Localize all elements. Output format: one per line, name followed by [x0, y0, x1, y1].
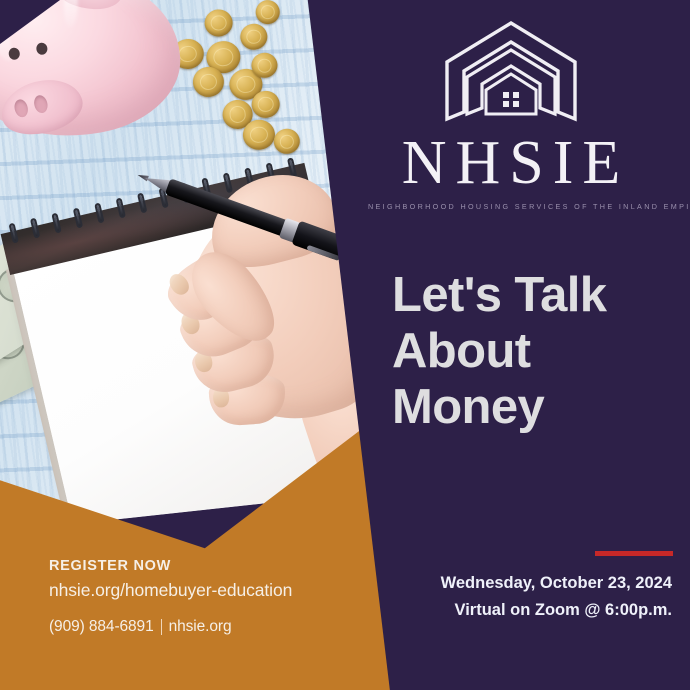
red-accent-divider — [595, 551, 673, 556]
phone-number[interactable]: (909) 884-6891 — [49, 618, 154, 636]
logo-wordmark: NHSIE — [365, 132, 657, 195]
nhsie-house-logo-icon — [441, 18, 581, 130]
registration-url[interactable]: nhsie.org/homebuyer-education — [49, 578, 292, 603]
flyer-content: NHSIE NEIGHBORHOOD HOUSING SERVICES OF T… — [0, 0, 690, 690]
website-url[interactable]: nhsie.org — [169, 618, 232, 636]
contact-line: (909) 884-6891 nhsie.org — [49, 618, 292, 636]
nhsie-logo: NHSIE NEIGHBORHOOD HOUSING SERVICES OF T… — [365, 18, 657, 211]
flyer-canvas: 100 100 — [0, 0, 690, 690]
event-format: Virtual on Zoom @ 6:00p.m. — [370, 597, 672, 624]
page-title: Let's Talk About Money — [392, 268, 682, 436]
headline-line-1: Let's Talk — [392, 268, 682, 324]
event-date: Wednesday, October 23, 2024 — [370, 570, 672, 597]
register-cta-label: REGISTER NOW — [49, 556, 292, 578]
event-details: Wednesday, October 23, 2024 Virtual on Z… — [370, 570, 678, 623]
headline-line-3: Money — [392, 380, 682, 436]
contact-separator — [161, 619, 162, 635]
logo-tagline: NEIGHBORHOOD HOUSING SERVICES OF THE INL… — [365, 202, 657, 211]
headline-line-2: About — [392, 324, 682, 380]
registration-block: REGISTER NOW nhsie.org/homebuyer-educati… — [49, 556, 292, 636]
